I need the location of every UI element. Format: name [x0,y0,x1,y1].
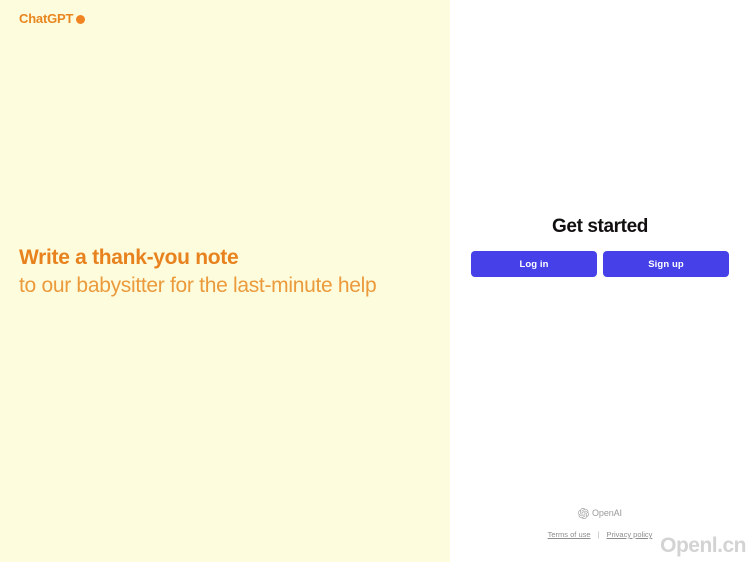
get-started-heading: Get started [450,216,750,238]
privacy-policy-link[interactable]: Privacy policy [607,530,653,540]
footer-links: Terms of use | Privacy policy [450,530,750,540]
orange-dot-icon [76,15,85,24]
login-button[interactable]: Log in [471,251,597,277]
example-prompt-subtitle: to our babysitter for the last-minute he… [19,272,419,300]
left-promo-panel: ChatGPT Write a thank-you note to our ba… [0,0,450,562]
signup-button[interactable]: Sign up [603,251,729,277]
terms-of-use-link[interactable]: Terms of use [548,530,591,540]
footer-separator: | [598,530,600,540]
chatgpt-brand-logo[interactable]: ChatGPT [19,11,85,27]
example-prompt: Write a thank-you note to our babysitter… [19,244,419,300]
example-prompt-title: Write a thank-you note [19,244,419,272]
openai-brand-mark: OpenAI [450,508,750,519]
openai-logo-icon [578,508,589,519]
right-auth-panel: Get started Log in Sign up OpenAI Terms … [450,0,750,562]
openai-logo-label: OpenAI [592,508,622,519]
chatgpt-landing-page: ChatGPT Write a thank-you note to our ba… [0,0,750,562]
page-footer: OpenAI Terms of use | Privacy policy [450,508,750,540]
auth-buttons-row: Log in Sign up [450,251,750,277]
get-started-block: Get started Log in Sign up [450,216,750,277]
brand-name-label: ChatGPT [19,11,73,27]
